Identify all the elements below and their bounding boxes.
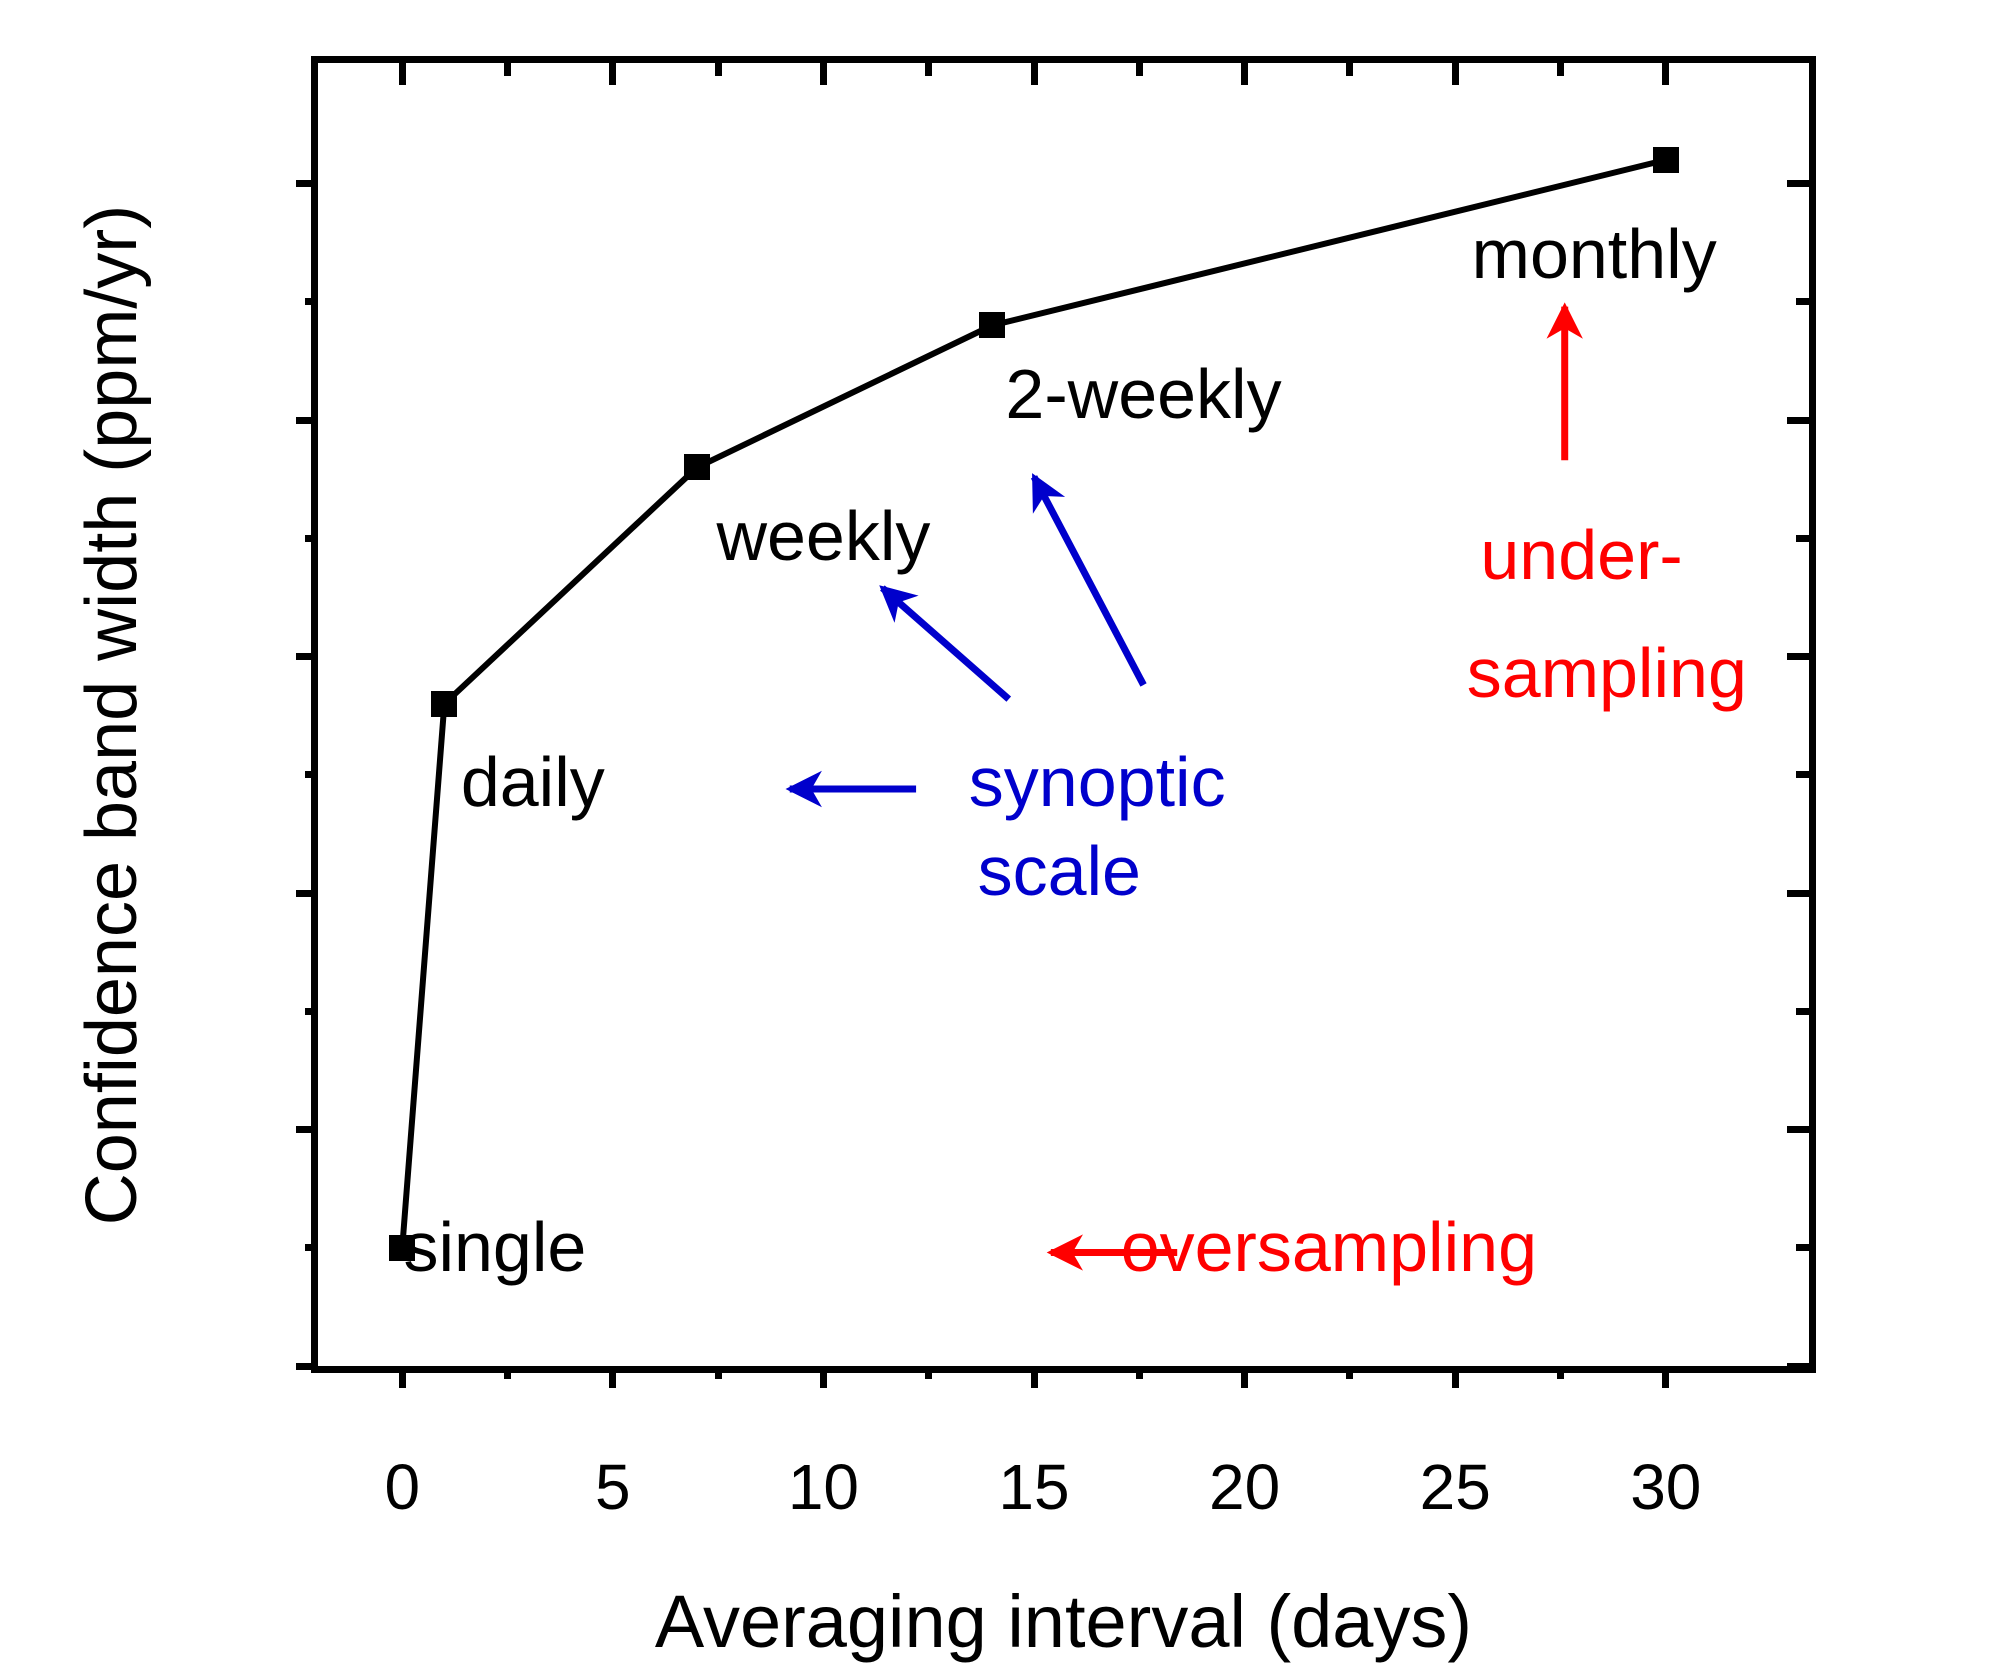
y-tick-major [296, 1363, 318, 1370]
plot-frame: Confidence band width (ppm/yr) Averaging… [311, 56, 1816, 1373]
x-tick-major [1452, 1366, 1459, 1388]
x-tick-label: 10 [788, 1455, 859, 1519]
annotation-sampling: sampling [1467, 638, 1747, 708]
annotation-single: single [403, 1212, 586, 1282]
chart-page: Confidence band width (ppm/yr) Averaging… [0, 0, 1998, 1644]
x-tick-major [820, 1366, 827, 1388]
y-tick-major [296, 1126, 318, 1133]
x-tick-label: 15 [998, 1455, 1069, 1519]
x-tick-major [399, 1366, 406, 1388]
x-tick-major [1662, 1366, 1669, 1388]
x-tick-minor [1136, 1366, 1143, 1379]
x-tick-major [1241, 1366, 1248, 1388]
y-tick-minor [305, 771, 318, 778]
x-axis-title: Averaging interval (days) [655, 1579, 1472, 1664]
annotation-oversampling: oversampling [1121, 1212, 1537, 1282]
y-tick-minor [305, 298, 318, 305]
x-tick-minor [1346, 1366, 1353, 1379]
x-tick-label: 5 [595, 1455, 631, 1519]
y-tick-major [296, 417, 318, 424]
synoptic-2weekly-arrow [1034, 477, 1144, 685]
x-tick-minor [715, 1366, 722, 1379]
x-tick-label: 25 [1420, 1455, 1491, 1519]
y-axis-title: Confidence band width (ppm/yr) [71, 204, 153, 1225]
x-tick-minor [925, 1366, 932, 1379]
annotation-monthly: monthly [1472, 219, 1717, 289]
annotation-daily: daily [461, 747, 605, 817]
y-tick-major [296, 180, 318, 187]
x-tick-major [609, 1366, 616, 1388]
y-tick-major [296, 653, 318, 660]
x-tick-label: 0 [384, 1455, 420, 1519]
x-tick-minor [504, 1366, 511, 1379]
x-tick-label: 30 [1630, 1455, 1701, 1519]
annotation-2-weekly: 2-weekly [1005, 359, 1281, 429]
x-tick-minor [1557, 1366, 1564, 1379]
y-tick-major [296, 890, 318, 897]
x-tick-label: 20 [1209, 1455, 1280, 1519]
x-tick-major [1031, 1366, 1038, 1388]
annotation-scale: scale [978, 836, 1141, 906]
annotation-weekly: weekly [716, 501, 930, 571]
synoptic-weekly-arrow [882, 588, 1008, 699]
annotation-under: under- [1480, 520, 1682, 590]
y-tick-minor [305, 1244, 318, 1251]
y-tick-minor [305, 1008, 318, 1015]
annotation-synoptic: synoptic [969, 747, 1226, 817]
y-tick-minor [305, 535, 318, 542]
